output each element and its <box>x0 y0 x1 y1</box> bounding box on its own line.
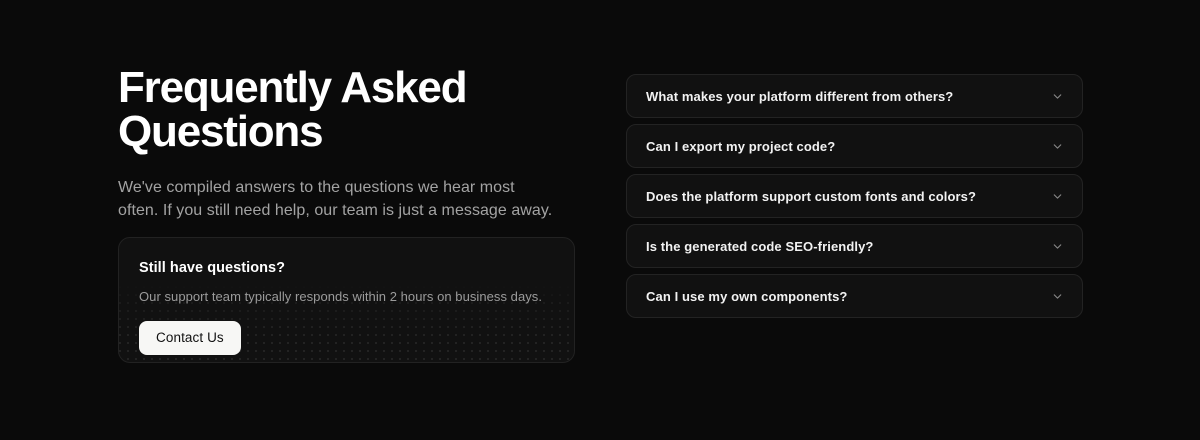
faq-question-label: Can I export my project code? <box>646 139 835 154</box>
faq-question-label: Is the generated code SEO-friendly? <box>646 239 873 254</box>
support-card-description: Our support team typically responds with… <box>139 288 554 306</box>
chevron-down-icon[interactable] <box>1050 139 1064 153</box>
faq-accordion: What makes your platform different from … <box>626 74 1083 318</box>
faq-item[interactable]: Is the generated code SEO-friendly? <box>626 224 1083 268</box>
faq-item[interactable]: Can I use my own components? <box>626 274 1083 318</box>
faq-page: Frequently Asked Questions We've compile… <box>0 0 1200 440</box>
chevron-down-icon[interactable] <box>1050 239 1064 253</box>
faq-item[interactable]: Can I export my project code? <box>626 124 1083 168</box>
chevron-down-icon[interactable] <box>1050 189 1064 203</box>
intro-column: Frequently Asked Questions We've compile… <box>118 66 576 222</box>
faq-question-label: Does the platform support custom fonts a… <box>646 189 976 204</box>
faq-question-label: What makes your platform different from … <box>646 89 953 104</box>
support-card: Still have questions? Our support team t… <box>118 237 575 363</box>
chevron-down-icon[interactable] <box>1050 289 1064 303</box>
faq-item[interactable]: What makes your platform different from … <box>626 74 1083 118</box>
page-subtitle: We've compiled answers to the questions … <box>118 176 558 222</box>
page-title: Frequently Asked Questions <box>118 66 576 154</box>
support-card-content: Still have questions? Our support team t… <box>119 238 574 355</box>
chevron-down-icon[interactable] <box>1050 89 1064 103</box>
faq-item[interactable]: Does the platform support custom fonts a… <box>626 174 1083 218</box>
support-card-title: Still have questions? <box>139 260 554 276</box>
contact-us-button[interactable]: Contact Us <box>139 321 241 355</box>
faq-question-label: Can I use my own components? <box>646 289 847 304</box>
